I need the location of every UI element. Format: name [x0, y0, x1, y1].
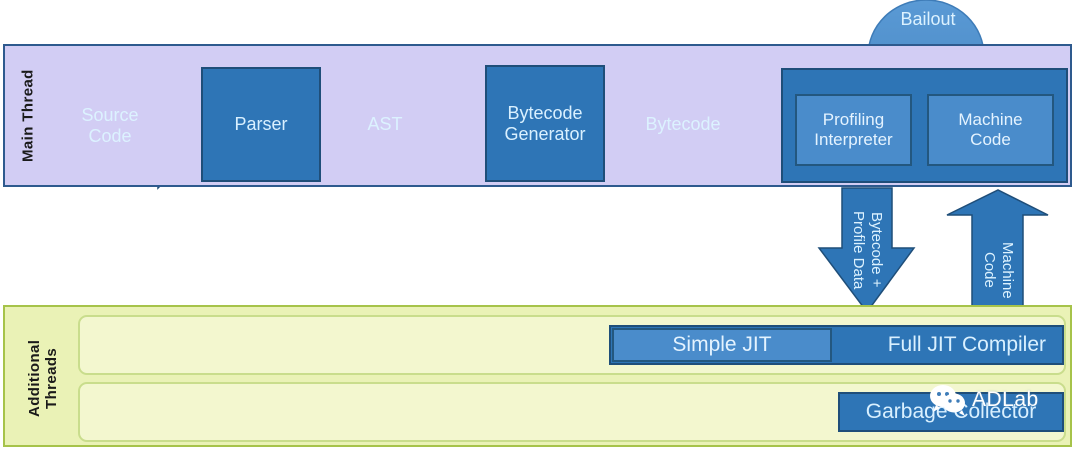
diagram-canvas: Main Thread Parser BytecodeGenerator Pro… [0, 0, 1080, 452]
bytecode-profile-data-arrow [819, 188, 914, 312]
parser-box[interactable]: Parser [201, 67, 321, 182]
garbage-collector-box[interactable]: Garbage Collector [838, 392, 1064, 432]
machine-code-box[interactable]: MachineCode [927, 94, 1054, 166]
bytecode-generator-box[interactable]: BytecodeGenerator [485, 65, 605, 182]
profiling-interpreter-box[interactable]: ProfilingInterpreter [795, 94, 912, 166]
additional-threads-label: AdditionalThreads [18, 313, 68, 443]
simple-jit-box[interactable]: Simple JIT [612, 328, 832, 362]
main-thread-label: Main Thread [16, 52, 40, 180]
